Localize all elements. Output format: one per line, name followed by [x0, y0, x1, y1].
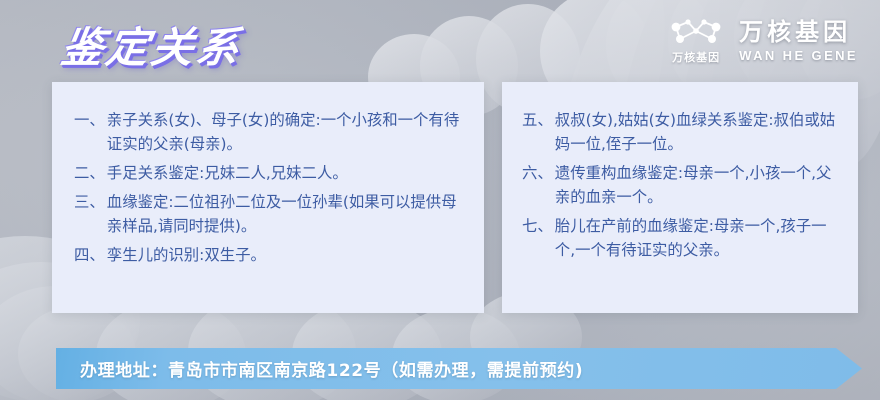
list-item-text: 胎儿在产前的血缘鉴定:母亲一个,孩子一个,一个有待证实的父亲。	[555, 214, 844, 262]
poster-canvas: 鉴定关系	[0, 0, 880, 400]
panel-right-content: 五、 叔叔(女),姑姑(女)血绿关系鉴定:叔伯或姑妈一位,侄子一位。 六、 遗传…	[502, 82, 858, 313]
panel-right: 五、 叔叔(女),姑姑(女)血绿关系鉴定:叔伯或姑妈一位,侄子一位。 六、 遗传…	[502, 82, 858, 313]
list-item-number: 一、	[74, 108, 107, 132]
list-item-text: 亲子关系(女)、母子(女)的确定:一个小孩和一个有待证实的父亲(母亲)。	[107, 108, 466, 156]
list-item-text: 血缘鉴定:二位祖孙二位及一位孙辈(如果可以提供母亲样品,请同时提供)。	[107, 190, 466, 238]
list-item: 一、 亲子关系(女)、母子(女)的确定:一个小孩和一个有待证实的父亲(母亲)。	[74, 108, 466, 156]
address-banner-text: 办理地址：青岛市市南区南京路122号（如需办理，需提前预约)	[56, 356, 583, 381]
list-item-text: 叔叔(女),姑姑(女)血绿关系鉴定:叔伯或姑妈一位,侄子一位。	[555, 108, 844, 156]
list-item-text: 孪生儿的识别:双生子。	[107, 243, 466, 267]
list-item-text: 遗传重构血缘鉴定:母亲一个,小孩一个,父亲的血亲一个。	[555, 161, 844, 209]
panel-left: 一、 亲子关系(女)、母子(女)的确定:一个小孩和一个有待证实的父亲(母亲)。 …	[52, 82, 484, 313]
list-item-number: 三、	[74, 190, 107, 214]
list-item: 五、 叔叔(女),姑姑(女)血绿关系鉴定:叔伯或姑妈一位,侄子一位。	[522, 108, 844, 156]
list-item-number: 七、	[522, 214, 555, 238]
brand-name-cn: 万核基因	[739, 20, 851, 46]
brand-mark: 万核基因	[669, 18, 723, 65]
list-item-number: 五、	[522, 108, 555, 132]
address-banner: 办理地址：青岛市市南区南京路122号（如需办理，需提前预约)	[56, 348, 862, 389]
list-item: 二、 手足关系鉴定:兄妹二人,兄妹二人。	[74, 161, 466, 185]
brand-mark-label: 万核基因	[672, 49, 720, 65]
list-item-number: 二、	[74, 161, 107, 185]
list-item: 三、 血缘鉴定:二位祖孙二位及一位孙辈(如果可以提供母亲样品,请同时提供)。	[74, 190, 466, 238]
list-item: 四、 孪生儿的识别:双生子。	[74, 243, 466, 267]
molecule-node-icon	[669, 18, 723, 46]
brand-wordmark: 万核基因 WAN HE GENE	[739, 20, 858, 63]
list-item: 六、 遗传重构血缘鉴定:母亲一个,小孩一个,父亲的血亲一个。	[522, 161, 844, 209]
page-title: 鉴定关系	[57, 14, 247, 75]
list-item-number: 四、	[74, 243, 107, 267]
brand-lockup: 万核基因 万核基因 WAN HE GENE	[669, 18, 858, 65]
list-item: 七、 胎儿在产前的血缘鉴定:母亲一个,孩子一个,一个有待证实的父亲。	[522, 214, 844, 262]
brand-name-en: WAN HE GENE	[739, 49, 858, 63]
list-item-number: 六、	[522, 161, 555, 185]
list-item-text: 手足关系鉴定:兄妹二人,兄妹二人。	[107, 161, 466, 185]
panel-left-content: 一、 亲子关系(女)、母子(女)的确定:一个小孩和一个有待证实的父亲(母亲)。 …	[52, 82, 484, 313]
